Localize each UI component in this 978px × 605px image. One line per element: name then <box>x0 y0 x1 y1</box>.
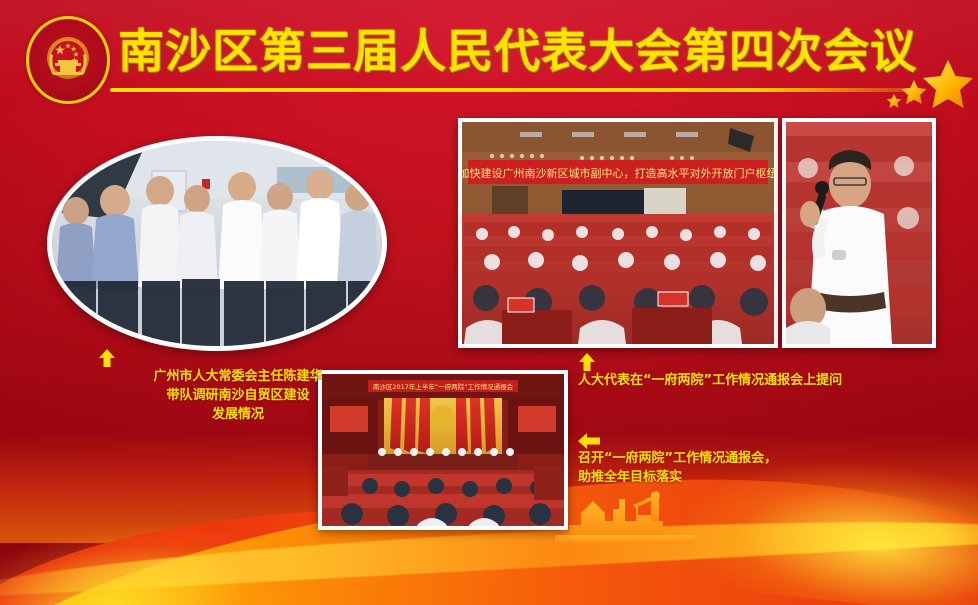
caption-line: 发展情况 <box>88 405 388 424</box>
photo-content <box>52 141 382 346</box>
title-underline <box>110 88 920 92</box>
caption-report-meeting: 召开“一府两院”工作情况通报会， 助推全年目标落实 <box>578 430 908 487</box>
caption-line: 广州市人大常委会主任陈建华 <box>88 367 388 386</box>
caption-deputy-question: 人大代表在“一府两院”工作情况通报会上提问 <box>578 352 968 390</box>
arrow-up-icon <box>578 353 596 371</box>
caption-line: 带队调研南沙自贸区建设 <box>88 386 388 405</box>
arrow-up-icon <box>98 349 116 367</box>
photo-content <box>786 122 932 344</box>
photo-conference-hall: 加快建设广州南沙新区城市副中心，打造高水平对外开放门户枢纽 <box>458 118 778 348</box>
caption-line: 召开“一府两院”工作情况通报会， <box>578 449 908 468</box>
title-bar: 南沙区第三届人民代表大会第四次会议 <box>118 22 958 84</box>
caption-line: 助推全年目标落实 <box>578 468 908 487</box>
meeting-banner-text: 南沙区2017年上半年“一府两院”工作情况通报会 <box>373 382 514 391</box>
caption-officials-site-visit: 广州市人大常委会主任陈建华 带队调研南沙自贸区建设 发展情况 <box>88 348 388 424</box>
arrow-left-icon <box>578 432 600 450</box>
photo-deputy-asking-question <box>782 118 936 348</box>
poster-header: 南沙区第三届人民代表大会第四次会议 <box>0 0 978 108</box>
city-skyline-crane-icon <box>555 491 695 543</box>
gold-stars-icon <box>884 56 976 112</box>
photo-content: 加快建设广州南沙新区城市副中心，打造高水平对外开放门户枢纽 <box>462 122 774 344</box>
caption-line: 人大代表在“一府两院”工作情况通报会上提问 <box>578 371 968 390</box>
emblem-graphic <box>40 32 96 88</box>
poster-root: 南沙区第三届人民代表大会第四次会议 <box>0 0 978 605</box>
china-national-emblem-icon <box>26 16 110 104</box>
page-title: 南沙区第三届人民代表大会第四次会议 <box>118 22 958 80</box>
photo-officials-site-visit <box>47 136 387 351</box>
hall-banner-text: 加快建设广州南沙新区城市副中心，打造高水平对外开放门户枢纽 <box>462 166 774 180</box>
